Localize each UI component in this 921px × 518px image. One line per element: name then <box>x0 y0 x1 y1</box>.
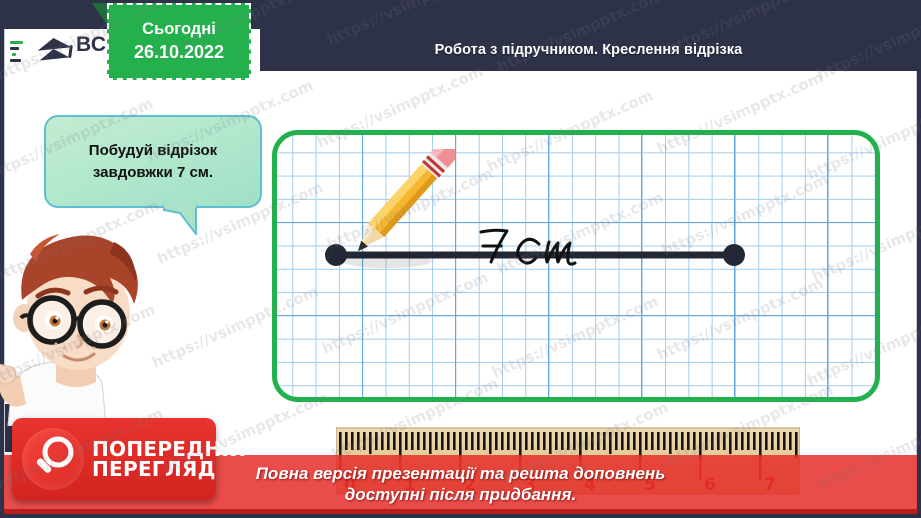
preview-badge-line-1: ПОПЕРЕДНІЙ <box>92 439 246 459</box>
speech-bubble-text: Побудуй відрізок завдовжки 7 см. <box>79 140 227 184</box>
speech-bubble: Побудуй відрізок завдовжки 7 см. <box>44 115 262 208</box>
banner-line-2: доступні після придбання. <box>345 485 576 506</box>
speech-bubble-tail-icon <box>163 205 197 235</box>
notebook-grid-panel <box>272 130 880 402</box>
preview-badge-line-2: ПЕРЕГЛЯД <box>92 459 246 479</box>
date-badge-value: 26.10.2022 <box>134 40 224 64</box>
preview-icon-circle <box>22 428 84 490</box>
preview-badge-text: ПОПЕРЕДНІЙ ПЕРЕГЛЯД <box>92 439 246 480</box>
segment-length-label <box>473 223 603 269</box>
banner-line-1: Повна версія презентації та решта доповн… <box>256 464 666 485</box>
graduation-cap-icon <box>37 36 71 66</box>
banner-bottom-strip <box>4 509 917 514</box>
pencil-icon <box>325 149 455 279</box>
cartoon-boy-character <box>0 196 174 426</box>
slide-canvas: п Робота з підручником. Креслення відріз… <box>0 0 921 518</box>
date-badge: Сьогодні 26.10.2022 <box>107 3 251 80</box>
magnifier-icon <box>22 428 84 490</box>
date-badge-label: Сьогодні <box>142 18 216 40</box>
header-band: Робота з підручником. Креслення відрізка <box>260 29 917 71</box>
preview-badge[interactable]: ПОПЕРЕДНІЙ ПЕРЕГЛЯД <box>12 418 216 500</box>
page-title: Робота з підручником. Креслення відрізка <box>260 29 917 71</box>
logo-speed-dashes-icon <box>10 38 32 64</box>
